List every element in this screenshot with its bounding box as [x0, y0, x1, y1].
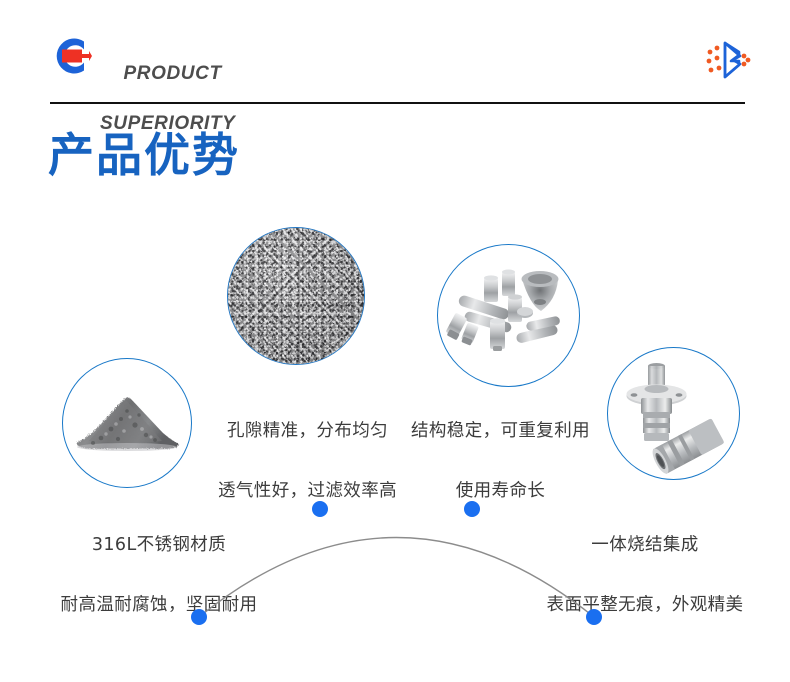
arc-node-2	[312, 501, 328, 517]
caption-line-1: 孔隙精准，分布均匀	[205, 416, 410, 446]
header-divider	[50, 102, 745, 104]
feature-image-porosity	[227, 227, 365, 365]
product-superiority-banner: PRODUCT SUPERIORITY 产品优势	[0, 0, 790, 682]
arc-node-4	[586, 609, 602, 625]
arc-node-3	[464, 501, 480, 517]
brand-line-1: PRODUCT	[124, 63, 222, 84]
c-arrow-logo-icon	[48, 33, 92, 79]
dotted-play-mark-icon	[703, 38, 751, 82]
page-title: 产品优势	[48, 119, 240, 185]
caption-line-1: 结构稳定，可重复利用	[398, 416, 603, 446]
filter-element-assortment-photo	[438, 245, 579, 386]
arc-node-1	[191, 609, 207, 625]
feature-image-structure	[437, 244, 580, 387]
connector-arc	[0, 455, 790, 655]
sintered-metal-texture-photo	[228, 228, 364, 364]
